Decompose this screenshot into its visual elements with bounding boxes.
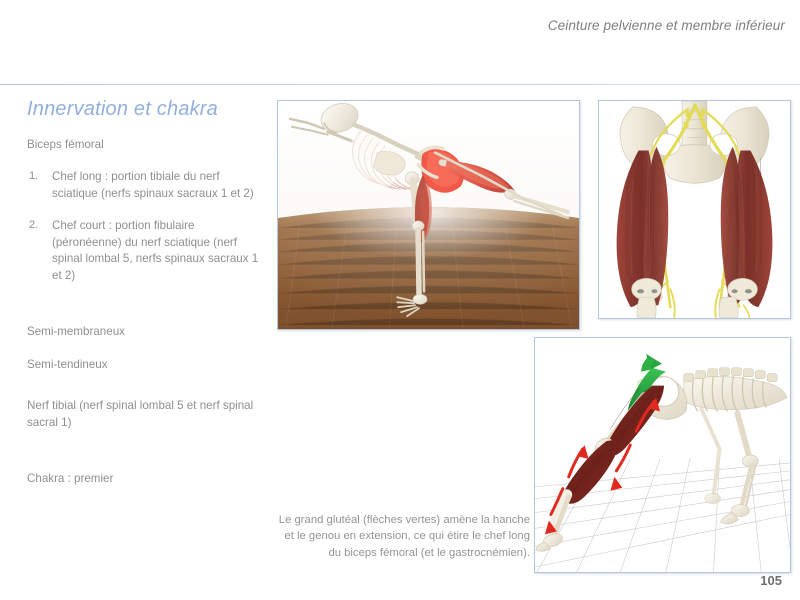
text-column: Innervation et chakra Biceps fémoral 1. … (27, 98, 263, 503)
figure-hamstrings-nerves (598, 100, 791, 319)
nerve-paragraph: Nerf tibial (nerf spinal lombal 5 et ner… (27, 398, 263, 431)
figure-caption: Le grand glutéal (flèches vertes) amène … (258, 512, 530, 561)
figure-skeleton-pose-graphic (278, 101, 579, 329)
page-number: 105 (760, 573, 782, 588)
intro-paragraph: Biceps fémoral (27, 137, 263, 153)
chakra-paragraph: Chakra : premier (27, 471, 263, 487)
caption-line: Le grand glutéal (flèches vertes) amène … (258, 512, 530, 528)
section-title: Innervation et chakra (27, 98, 263, 121)
figure-stretch-arrows-graphic (535, 338, 790, 572)
list-item-text: Chef court : portion fibulaire (péronéen… (52, 219, 258, 281)
running-head: Ceinture pelvienne et membre inférieur (548, 18, 785, 33)
list-item: 2. Chef court : portion fibulaire (péron… (27, 218, 263, 284)
spacer (27, 447, 263, 471)
caption-line: du biceps fémoral (et le gastrocnémien). (258, 545, 530, 561)
spacer (27, 300, 263, 324)
numbered-list: 1. Chef long : portion tibiale du nerf s… (27, 169, 263, 284)
list-item-number: 1. (29, 169, 38, 185)
header-rule (0, 84, 800, 85)
spacer (27, 389, 263, 398)
caption-line: et le genou en extension, ce qui étire l… (258, 528, 530, 544)
muscle-semi-tendineux: Semi-tendineux (27, 357, 263, 373)
figure-hamstrings-nerves-graphic (599, 101, 790, 318)
list-item-number: 2. (29, 218, 38, 234)
list-item-text: Chef long : portion tibiale du nerf scia… (52, 170, 254, 199)
muscle-semi-membraneux: Semi-membraneux (27, 324, 263, 340)
figure-skeleton-pose (277, 100, 580, 330)
figure-stretch-arrows (534, 337, 791, 573)
list-item: 1. Chef long : portion tibiale du nerf s… (27, 169, 263, 202)
